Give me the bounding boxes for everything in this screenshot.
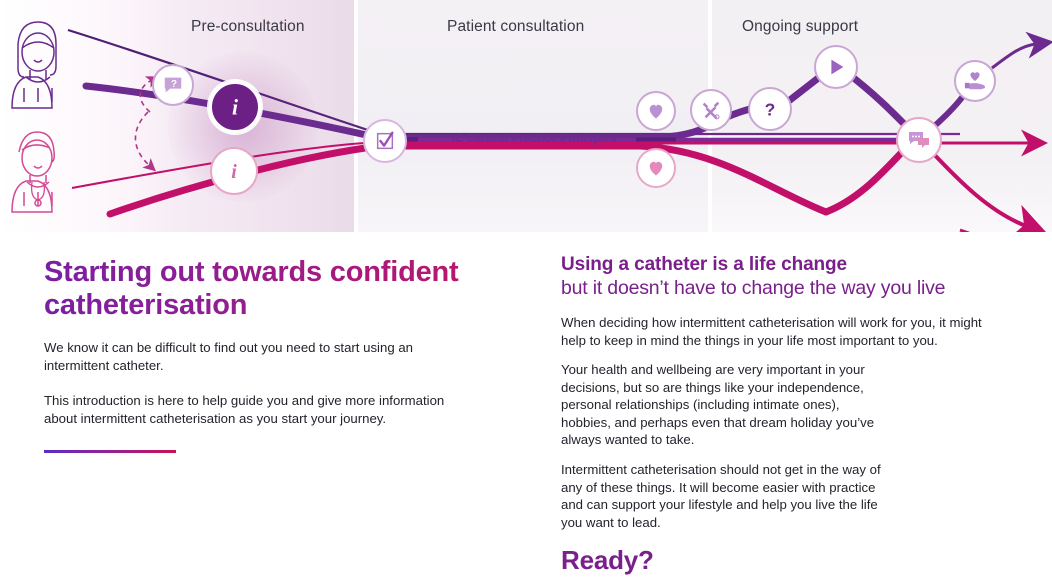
right-column: Using a catheter is a life change but it…: [561, 254, 1006, 576]
svg-text:i: i: [231, 161, 237, 183]
right-paragraph-2: Your health and wellbeing are very impor…: [561, 361, 883, 449]
heart-glyph: [646, 101, 666, 121]
tools-glyph: [700, 99, 722, 121]
dashed-connector: [135, 112, 150, 166]
info-filled-icon[interactable]: i: [209, 81, 261, 133]
heart-icon[interactable]: [636, 91, 676, 131]
checklist-icon[interactable]: [363, 119, 407, 163]
intro-paragraph-1: We know it can be difficult to find out …: [44, 339, 464, 374]
ready-heading: Ready?: [561, 545, 1006, 576]
tools-icon[interactable]: [690, 89, 732, 131]
info-glyph: i: [222, 94, 248, 120]
intro-paragraph-2: This introduction is here to help guide …: [44, 392, 464, 427]
content-area: Starting out towards confident catheteri…: [0, 232, 1052, 588]
question-bubble-glyph: ?: [162, 74, 184, 96]
patient-figure: [12, 22, 56, 108]
right-paragraph-3: Intermittent catheterisation should not …: [561, 461, 883, 531]
journey-flow-lines: [0, 0, 1052, 232]
chat-glyph: [907, 128, 931, 152]
heading-line-1: Using a catheter is a life change: [561, 254, 847, 275]
question-bubble-icon[interactable]: ?: [152, 64, 194, 106]
question-mark-icon[interactable]: ?: [748, 87, 792, 131]
info-outline-glyph: i: [222, 159, 246, 183]
heart-pink-glyph: [646, 158, 666, 178]
checklist-glyph: [374, 130, 396, 152]
ic-principles-label: IC Clinical Practice Principles: [414, 133, 654, 145]
heart-pink-icon[interactable]: [636, 148, 676, 188]
hand-heart-icon[interactable]: [954, 60, 996, 102]
right-column-heading: Using a catheter is a life change but it…: [561, 254, 1006, 300]
svg-text:i: i: [232, 96, 238, 120]
patient-journey-diagram: Pre-consultation Patient consultation On…: [0, 0, 1052, 232]
left-column: Starting out towards confident catheteri…: [44, 256, 464, 427]
play-glyph: [825, 56, 847, 78]
chat-icon[interactable]: [896, 117, 942, 163]
heading-line-2: but it doesn’t have to change the way yo…: [561, 277, 1006, 300]
right-paragraph-1: When deciding how intermittent catheteri…: [561, 314, 993, 349]
accent-rule: [44, 450, 176, 453]
hand-heart-glyph: [963, 70, 987, 92]
page: Pre-consultation Patient consultation On…: [0, 0, 1052, 588]
page-title: Starting out towards confident catheteri…: [44, 256, 464, 322]
svg-text:?: ?: [765, 99, 776, 119]
svg-text:?: ?: [171, 79, 177, 90]
play-icon[interactable]: [814, 45, 858, 89]
clinician-figure: [12, 132, 54, 212]
info-outline-icon[interactable]: i: [210, 147, 258, 195]
question-mark-glyph: ?: [759, 98, 781, 120]
